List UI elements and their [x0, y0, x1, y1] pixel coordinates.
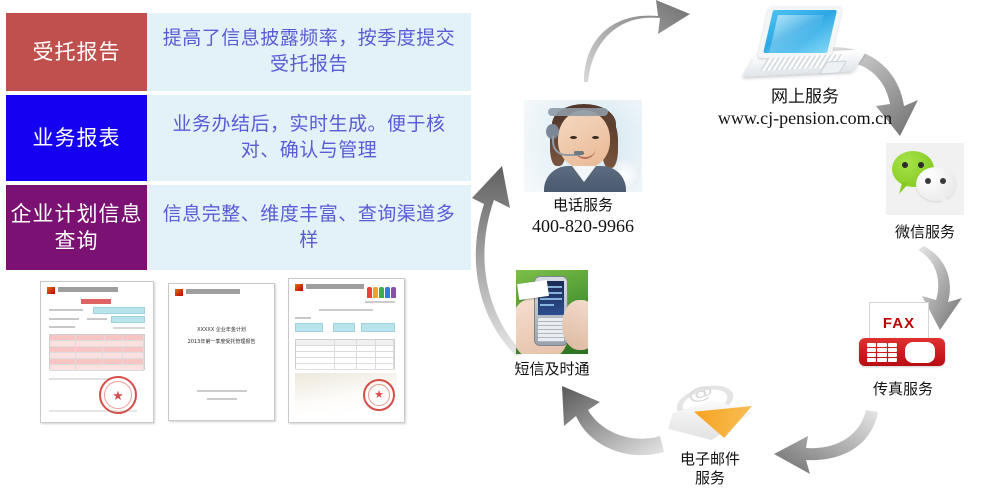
- node-caption-line1: 网上服务: [680, 86, 930, 107]
- laptop-icon: [749, 6, 861, 80]
- node-caption-line2[interactable]: www.cj-pension.com.cn: [680, 107, 930, 130]
- plan-cover-thumbnail: XXXXX 企业年金计划 2013年第一季度受托管理报告: [168, 283, 275, 421]
- table-row: 业务报表 业务办结后，实时生成。便于核对、确认与管理: [6, 95, 471, 181]
- official-seal-icon: ★: [99, 376, 137, 414]
- node-sms-service[interactable]: 短信及时通: [487, 270, 617, 379]
- document-thumbnails: ★ XXXXX 企业年金计划 2013年第一季度受托管理报告: [40, 278, 420, 423]
- node-fax-service[interactable]: FAX 传真服务: [848, 302, 958, 399]
- mobile-phone-photo-icon: [516, 270, 588, 354]
- email-envelope-icon: [666, 378, 754, 448]
- feature-description-cell: 信息完整、维度丰富、查询渠道多样: [147, 185, 471, 270]
- feature-description-cell: 提高了信息披露频率，按季度提交受托报告: [147, 13, 471, 91]
- fax-machine-icon: FAX: [859, 302, 947, 374]
- feature-label-cell: 受托报告: [6, 13, 147, 91]
- node-caption-line1: 电话服务: [503, 196, 663, 215]
- wechat-logo-icon: [886, 143, 964, 215]
- node-phone-service[interactable]: 电话服务 400-820-9966: [503, 100, 663, 237]
- diagram-canvas: 受托报告 提高了信息披露频率，按季度提交受托报告 业务报表 业务办结后，实时生成…: [0, 0, 987, 500]
- doc-title: [81, 299, 111, 304]
- call-center-photo-icon: [524, 100, 642, 192]
- fax-badge-label: FAX: [883, 315, 915, 332]
- feature-table: 受托报告 提高了信息披露频率，按季度提交受托报告 业务报表 业务办结后，实时生成…: [6, 13, 471, 266]
- company-logo-icon: [47, 287, 55, 294]
- feature-description-cell: 业务办结后，实时生成。便于核对、确认与管理: [147, 95, 471, 181]
- feature-label-cell: 企业计划信息查询: [6, 185, 147, 270]
- table-row: 受托报告 提高了信息披露频率，按季度提交受托报告: [6, 13, 471, 91]
- node-caption-line1: 短信及时通: [487, 360, 617, 379]
- brand-logo-icon: [367, 287, 396, 298]
- company-logo-icon: [295, 284, 303, 291]
- node-caption-line1: 电子邮件: [650, 450, 770, 469]
- node-wechat-service[interactable]: 微信服务: [870, 143, 980, 242]
- node-caption-line1: 微信服务: [870, 223, 980, 242]
- node-email-service[interactable]: 电子邮件 服务: [650, 378, 770, 488]
- node-web-service[interactable]: 网上服务 www.cj-pension.com.cn: [680, 6, 930, 130]
- account-statement-thumbnail: ★: [288, 278, 405, 423]
- feature-label-cell: 业务报表: [6, 95, 147, 181]
- table-row: 企业计划信息查询 信息完整、维度丰富、查询渠道多样: [6, 185, 471, 270]
- doc-header-text: [186, 289, 240, 294]
- official-seal-icon: ★: [363, 379, 395, 411]
- node-caption-line2: 服务: [650, 469, 770, 488]
- doc-header-text: [58, 287, 118, 292]
- doc-title-line2: 2013年第一季度受托管理报告: [169, 338, 274, 347]
- node-caption-line2: 400-820-9966: [503, 215, 663, 238]
- report-statement-thumbnail: ★: [40, 281, 154, 423]
- company-logo-icon: [175, 289, 183, 296]
- doc-header-text: [306, 284, 364, 289]
- doc-title-line1: XXXXX 企业年金计划: [169, 326, 274, 335]
- arrow-fax-to-email: [772, 410, 882, 480]
- node-caption-line1: 传真服务: [848, 380, 958, 399]
